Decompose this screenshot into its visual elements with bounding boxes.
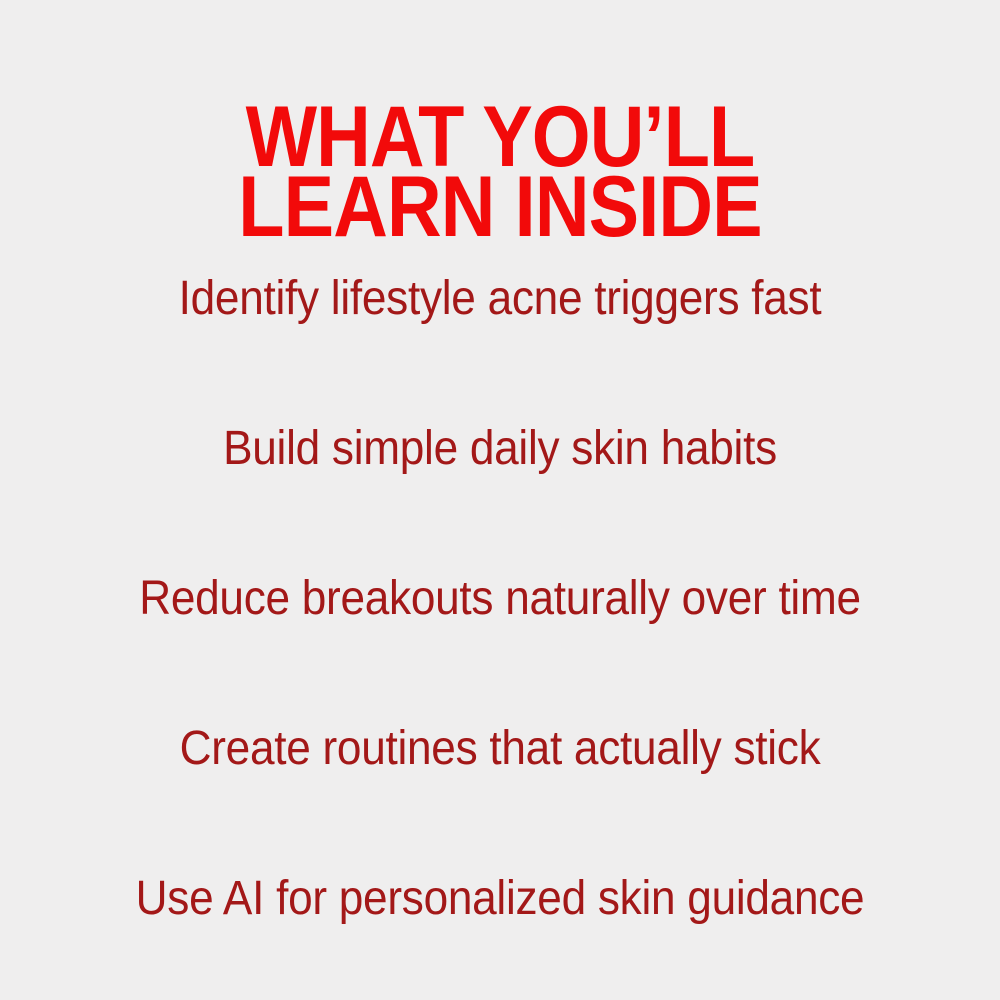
list-item: Build simple daily skin habits (40, 374, 960, 524)
list-item: Reduce breakouts naturally over time (40, 524, 960, 674)
list-item: Identify lifestyle acne triggers fast (40, 224, 960, 374)
list-item: Create routines that actually stick (40, 674, 960, 824)
page-title: WHAT YOU’LL LEARN INSIDE (60, 102, 940, 242)
list-item: Use AI for personalized skin guidance (40, 824, 960, 974)
benefits-list: Identify lifestyle acne triggers fast Bu… (0, 224, 1000, 974)
poster-canvas: WHAT YOU’LL LEARN INSIDE Identify lifest… (0, 0, 1000, 1000)
